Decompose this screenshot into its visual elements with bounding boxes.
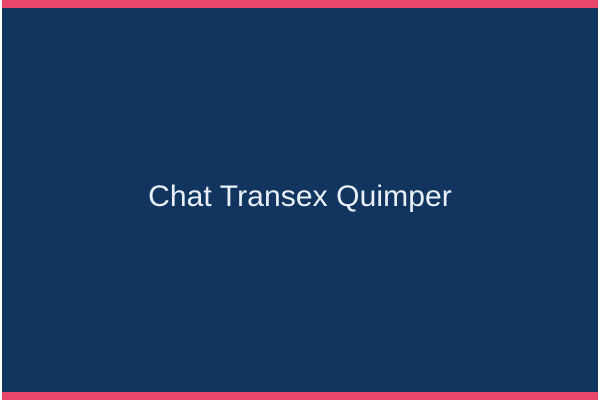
bottom-accent-bar — [2, 392, 598, 400]
banner-body: Chat Transex Quimper — [2, 8, 598, 392]
placeholder-banner: Chat Transex Quimper — [0, 0, 600, 400]
banner-title: Chat Transex Quimper — [148, 179, 452, 215]
top-accent-bar — [2, 0, 598, 8]
